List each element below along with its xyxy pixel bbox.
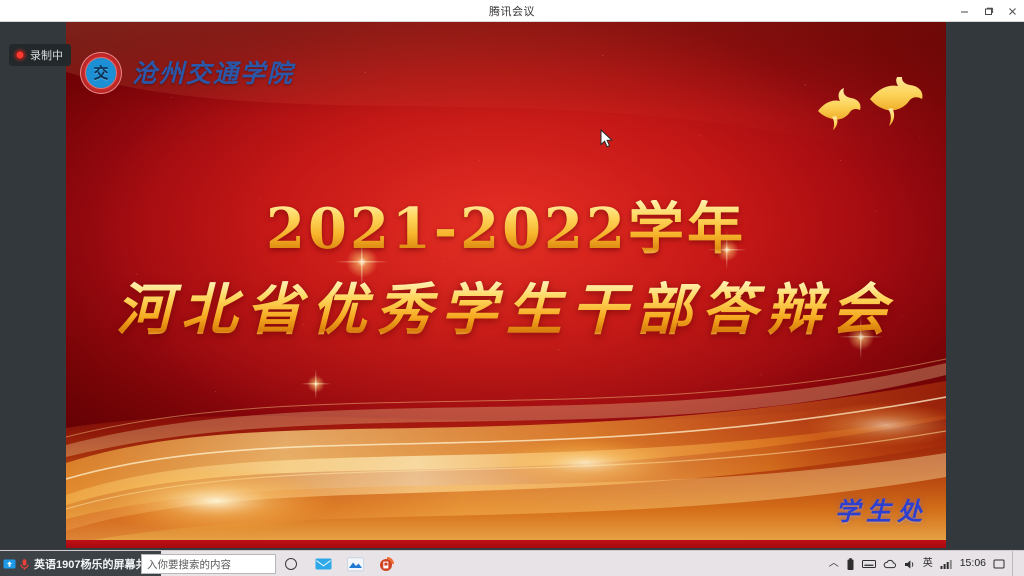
mail-glyph-icon — [315, 557, 332, 571]
recording-label: 录制中 — [30, 47, 63, 63]
tray-overflow-icon[interactable]: ︿ — [829, 559, 839, 569]
onedrive-icon[interactable] — [883, 559, 897, 569]
slide-title-year: 2021-2022学年 — [66, 200, 946, 259]
cursor-arrow-icon — [600, 129, 614, 149]
school-emblem-mark: 交 — [93, 66, 108, 81]
photos-icon[interactable] — [346, 555, 364, 573]
keyboard-icon[interactable] — [862, 559, 876, 569]
screen-share-icon — [3, 558, 16, 571]
minimize-icon — [959, 6, 970, 17]
dove-icon — [806, 77, 936, 137]
golden-ribbons-decoration — [66, 333, 946, 548]
slide-title-group: 2021-2022学年 河北省优秀学生干部答辩会 — [66, 200, 946, 340]
close-button[interactable] — [1000, 0, 1024, 22]
microphone-icon — [18, 558, 31, 571]
maximize-button[interactable] — [976, 0, 1000, 22]
action-center-icon[interactable] — [993, 558, 1005, 570]
mail-icon[interactable] — [314, 555, 332, 573]
mouse-cursor — [600, 129, 614, 149]
screen-share-label: 英语1907杨乐的屏幕共享 — [34, 556, 157, 572]
recording-dot-icon — [15, 50, 25, 60]
volume-icon[interactable] — [904, 559, 916, 570]
taskbar-clock[interactable]: 15:06 — [960, 558, 986, 569]
maximize-icon — [983, 6, 994, 17]
window-title: 腾讯会议 — [489, 3, 535, 19]
recording-indicator[interactable]: 录制中 — [9, 44, 71, 66]
taskbar-pinned-apps — [282, 551, 396, 576]
school-emblem-icon: 交 — [80, 52, 122, 94]
show-desktop-button[interactable] — [1012, 551, 1020, 576]
school-name: 沧州交通学院 — [132, 61, 294, 86]
taskbar-search-input[interactable]: 入你要搜索的内容 — [141, 554, 276, 574]
close-icon — [1007, 6, 1018, 17]
battery-icon[interactable] — [846, 558, 855, 571]
window-controls — [952, 0, 1024, 22]
powerpoint-glyph-icon — [379, 556, 395, 572]
network-icon[interactable] — [940, 559, 953, 570]
school-logo: 交 沧州交通学院 — [80, 52, 294, 94]
cortana-ring-icon — [285, 558, 297, 570]
minimize-button[interactable] — [952, 0, 976, 22]
window-titlebar: 腾讯会议 — [0, 0, 1024, 22]
screen-share-chip[interactable]: 英语1907杨乐的屏幕共享 — [0, 551, 161, 576]
photos-glyph-icon — [347, 557, 364, 572]
powerpoint-icon[interactable] — [378, 555, 396, 573]
tencent-meeting-window: 腾讯会议 — [0, 0, 1024, 576]
slide-title-main: 河北省优秀学生干部答辩会 — [66, 281, 946, 340]
system-tray: ︿ 英 15:06 — [829, 551, 1020, 576]
student-affairs-seal: 学生处 — [835, 499, 928, 524]
shared-screen-slide[interactable]: 交 沧州交通学院 — [66, 22, 946, 548]
ribbon-svg — [66, 333, 946, 548]
slide-bottom-bar — [66, 540, 946, 548]
taskbar-search-placeholder: 入你要搜索的内容 — [147, 557, 231, 572]
cortana-icon[interactable] — [282, 555, 300, 573]
ime-indicator[interactable]: 英 — [923, 559, 933, 569]
doves-decoration — [806, 77, 936, 137]
share-chip-icons — [3, 558, 31, 571]
windows-taskbar: 英语1907杨乐的屏幕共享 入你要搜索的内容 — [0, 550, 1024, 576]
